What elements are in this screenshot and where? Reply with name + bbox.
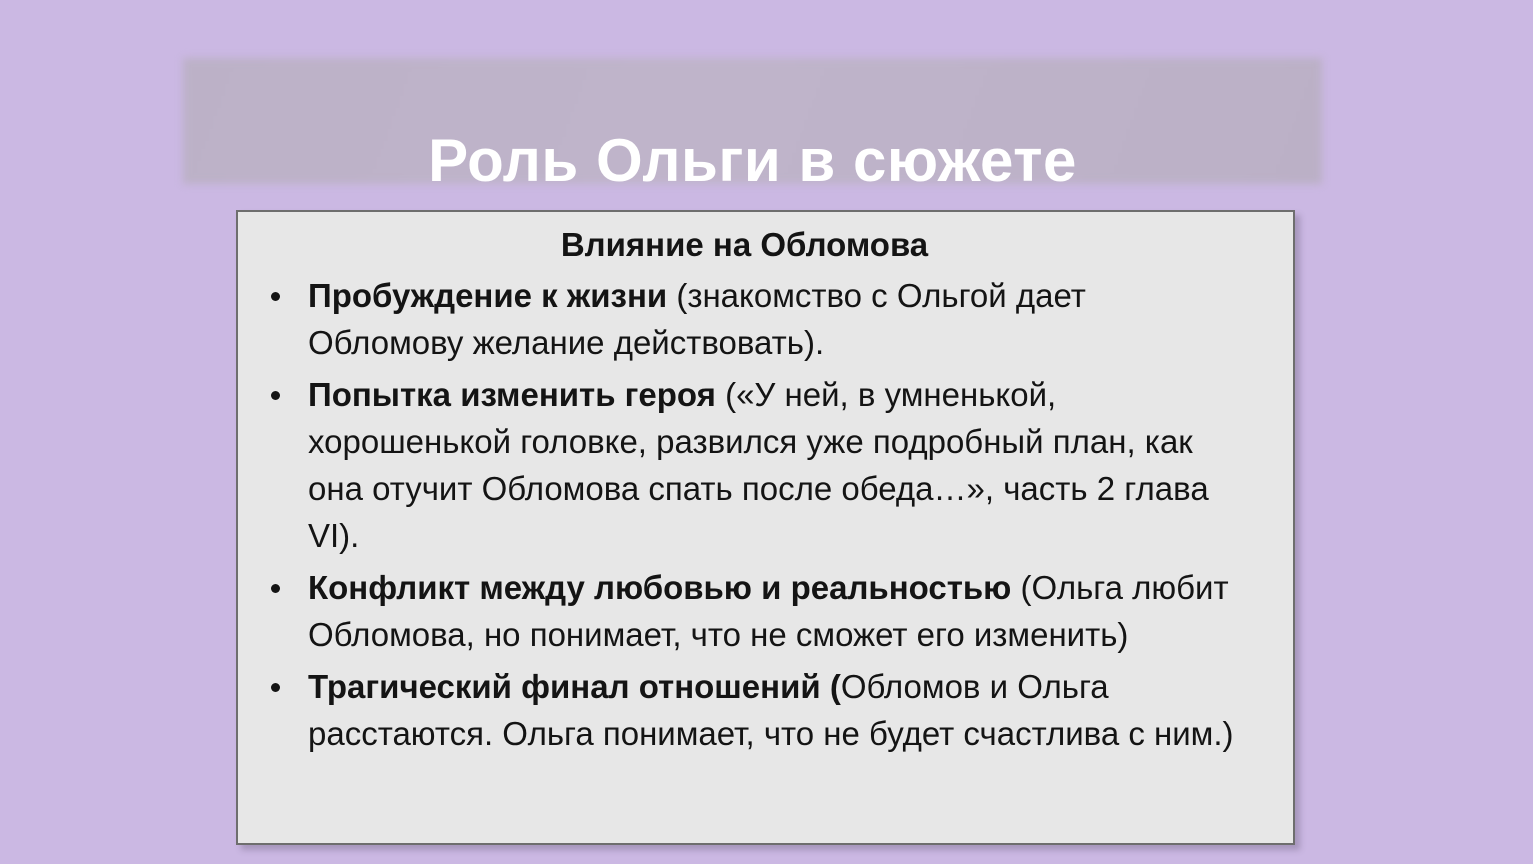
content-inner: Влияние на Обломова Пробуждение к жизни …	[238, 212, 1293, 757]
list-item: Трагический финал отношений (Обломов и О…	[254, 663, 1243, 757]
content-box: Влияние на Обломова Пробуждение к жизни …	[236, 210, 1295, 845]
bullet-term: Трагический финал отношений (	[308, 668, 841, 705]
list-item: Конфликт между любовью и реальностью (Ол…	[254, 564, 1243, 658]
bullet-term: Конфликт между любовью и реальностью	[308, 569, 1011, 606]
bullet-term: Попытка изменить героя	[308, 376, 716, 413]
bullet-term: Пробуждение к жизни	[308, 277, 667, 314]
slide: Роль Ольги в сюжете Влияние на Обломова …	[0, 0, 1533, 864]
bullet-list: Пробуждение к жизни (знакомство с Ольгой…	[254, 272, 1243, 757]
content-heading: Влияние на Обломова	[254, 224, 1243, 266]
slide-title: Роль Ольги в сюжете	[183, 98, 1322, 224]
list-item: Пробуждение к жизни (знакомство с Ольгой…	[254, 272, 1243, 366]
list-item: Попытка изменить героя («У ней, в умнень…	[254, 371, 1243, 559]
